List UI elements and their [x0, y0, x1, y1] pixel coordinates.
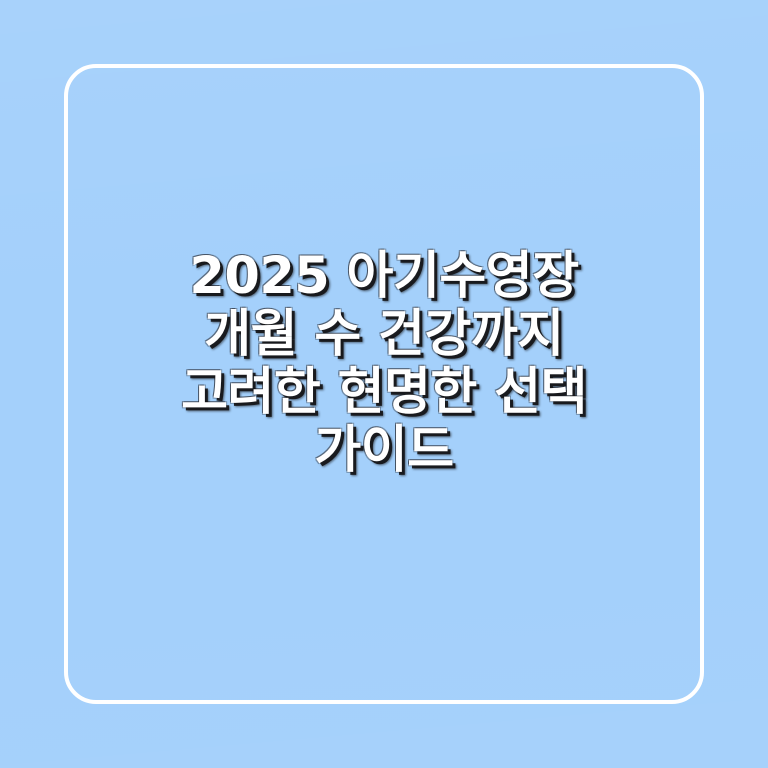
title-line-1: 2025 아기수영장	[70, 248, 698, 306]
title-line-3: 고려한 현명한 선택	[70, 364, 698, 422]
poster-canvas: 2025 아기수영장 개월 수 건강까지 고려한 현명한 선택 가이드	[0, 0, 768, 768]
title-line-4: 가이드	[70, 422, 698, 480]
title-line-2: 개월 수 건강까지	[70, 306, 698, 364]
poster-title: 2025 아기수영장 개월 수 건강까지 고려한 현명한 선택 가이드	[0, 248, 768, 480]
